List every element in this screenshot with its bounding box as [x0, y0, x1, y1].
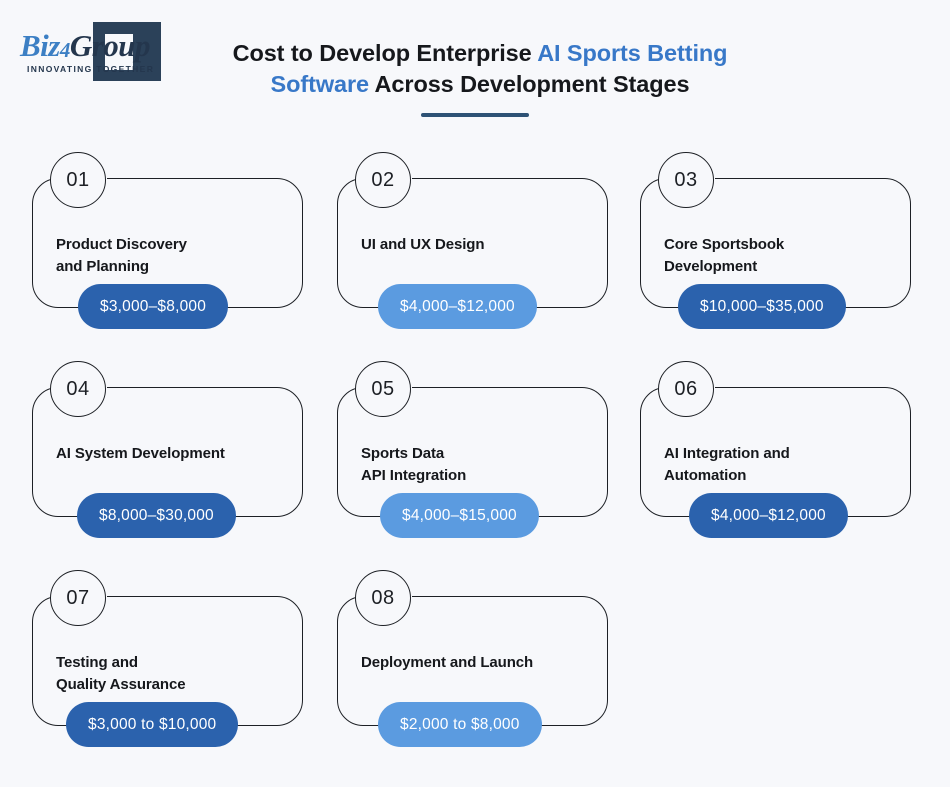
stage-price-badge[interactable]: $2,000 to $8,000	[378, 702, 542, 747]
stage-card[interactable]: 08 Deployment and Launch $2,000 to $8,00…	[337, 596, 608, 751]
stage-title: Sports Data API Integration	[361, 443, 591, 486]
stage-title: Product Discovery and Planning	[56, 234, 286, 277]
page-title: Cost to Develop Enterprise AI Sports Bet…	[200, 38, 760, 100]
stage-number-badge: 08	[355, 570, 411, 626]
stage-title: Deployment and Launch	[361, 652, 591, 674]
stage-price-badge[interactable]: $4,000–$12,000	[378, 284, 537, 329]
stage-card[interactable]: 03 Core Sportsbook Development $10,000–$…	[640, 178, 911, 333]
stage-title: UI and UX Design	[361, 234, 591, 256]
stage-price-badge[interactable]: $3,000 to $10,000	[66, 702, 238, 747]
stage-number-badge: 07	[50, 570, 106, 626]
stage-number-badge: 02	[355, 152, 411, 208]
stage-number-badge: 03	[658, 152, 714, 208]
page-title-line-2: Software Across Development Stages	[200, 69, 760, 100]
stage-card[interactable]: 01 Product Discovery and Planning $3,000…	[32, 178, 303, 333]
page-title-text-highlight-2: Software	[271, 71, 369, 97]
logo-word-biz: Biz	[20, 28, 60, 63]
logo-word-four: 4	[60, 38, 70, 62]
stage-title: Testing and Quality Assurance	[56, 652, 286, 695]
stage-card[interactable]: 04 AI System Development $8,000–$30,000	[32, 387, 303, 542]
page-title-text-plain-1: Cost to Develop Enterprise	[233, 40, 538, 66]
stage-title: Core Sportsbook Development	[664, 234, 894, 277]
logo-tagline: INNOVATING TOGETHER	[27, 64, 154, 74]
logo-word-group: Group	[70, 28, 150, 63]
stage-price-badge[interactable]: $4,000–$12,000	[689, 493, 848, 538]
stage-number-badge: 04	[50, 361, 106, 417]
logo-wordmark: Biz4Group	[20, 28, 140, 64]
stage-number-badge: 06	[658, 361, 714, 417]
stage-card[interactable]: 02 UI and UX Design $4,000–$12,000	[337, 178, 608, 333]
stage-price-badge[interactable]: $4,000–$15,000	[380, 493, 539, 538]
stage-number-badge: 01	[50, 152, 106, 208]
stage-title: AI Integration and Automation	[664, 443, 894, 486]
stage-price-badge[interactable]: $3,000–$8,000	[78, 284, 228, 329]
stage-title: AI System Development	[56, 443, 286, 465]
infographic-header: Biz4Group INNOVATING TOGETHER Cost to De…	[0, 0, 950, 135]
stage-card[interactable]: 05 Sports Data API Integration $4,000–$1…	[337, 387, 608, 542]
stage-price-badge[interactable]: $8,000–$30,000	[77, 493, 236, 538]
stage-number-badge: 05	[355, 361, 411, 417]
stage-card[interactable]: 06 AI Integration and Automation $4,000–…	[640, 387, 911, 542]
page-title-text-plain-2: Across Development Stages	[369, 71, 689, 97]
title-underline-rule	[421, 113, 529, 117]
stage-card[interactable]: 07 Testing and Quality Assurance $3,000 …	[32, 596, 303, 751]
page-title-text-highlight-1: AI Sports Betting	[537, 40, 727, 66]
stage-price-badge[interactable]: $10,000–$35,000	[678, 284, 846, 329]
biz4group-logo: Biz4Group INNOVATING TOGETHER	[20, 22, 165, 84]
page-title-line-1: Cost to Develop Enterprise AI Sports Bet…	[200, 38, 760, 69]
